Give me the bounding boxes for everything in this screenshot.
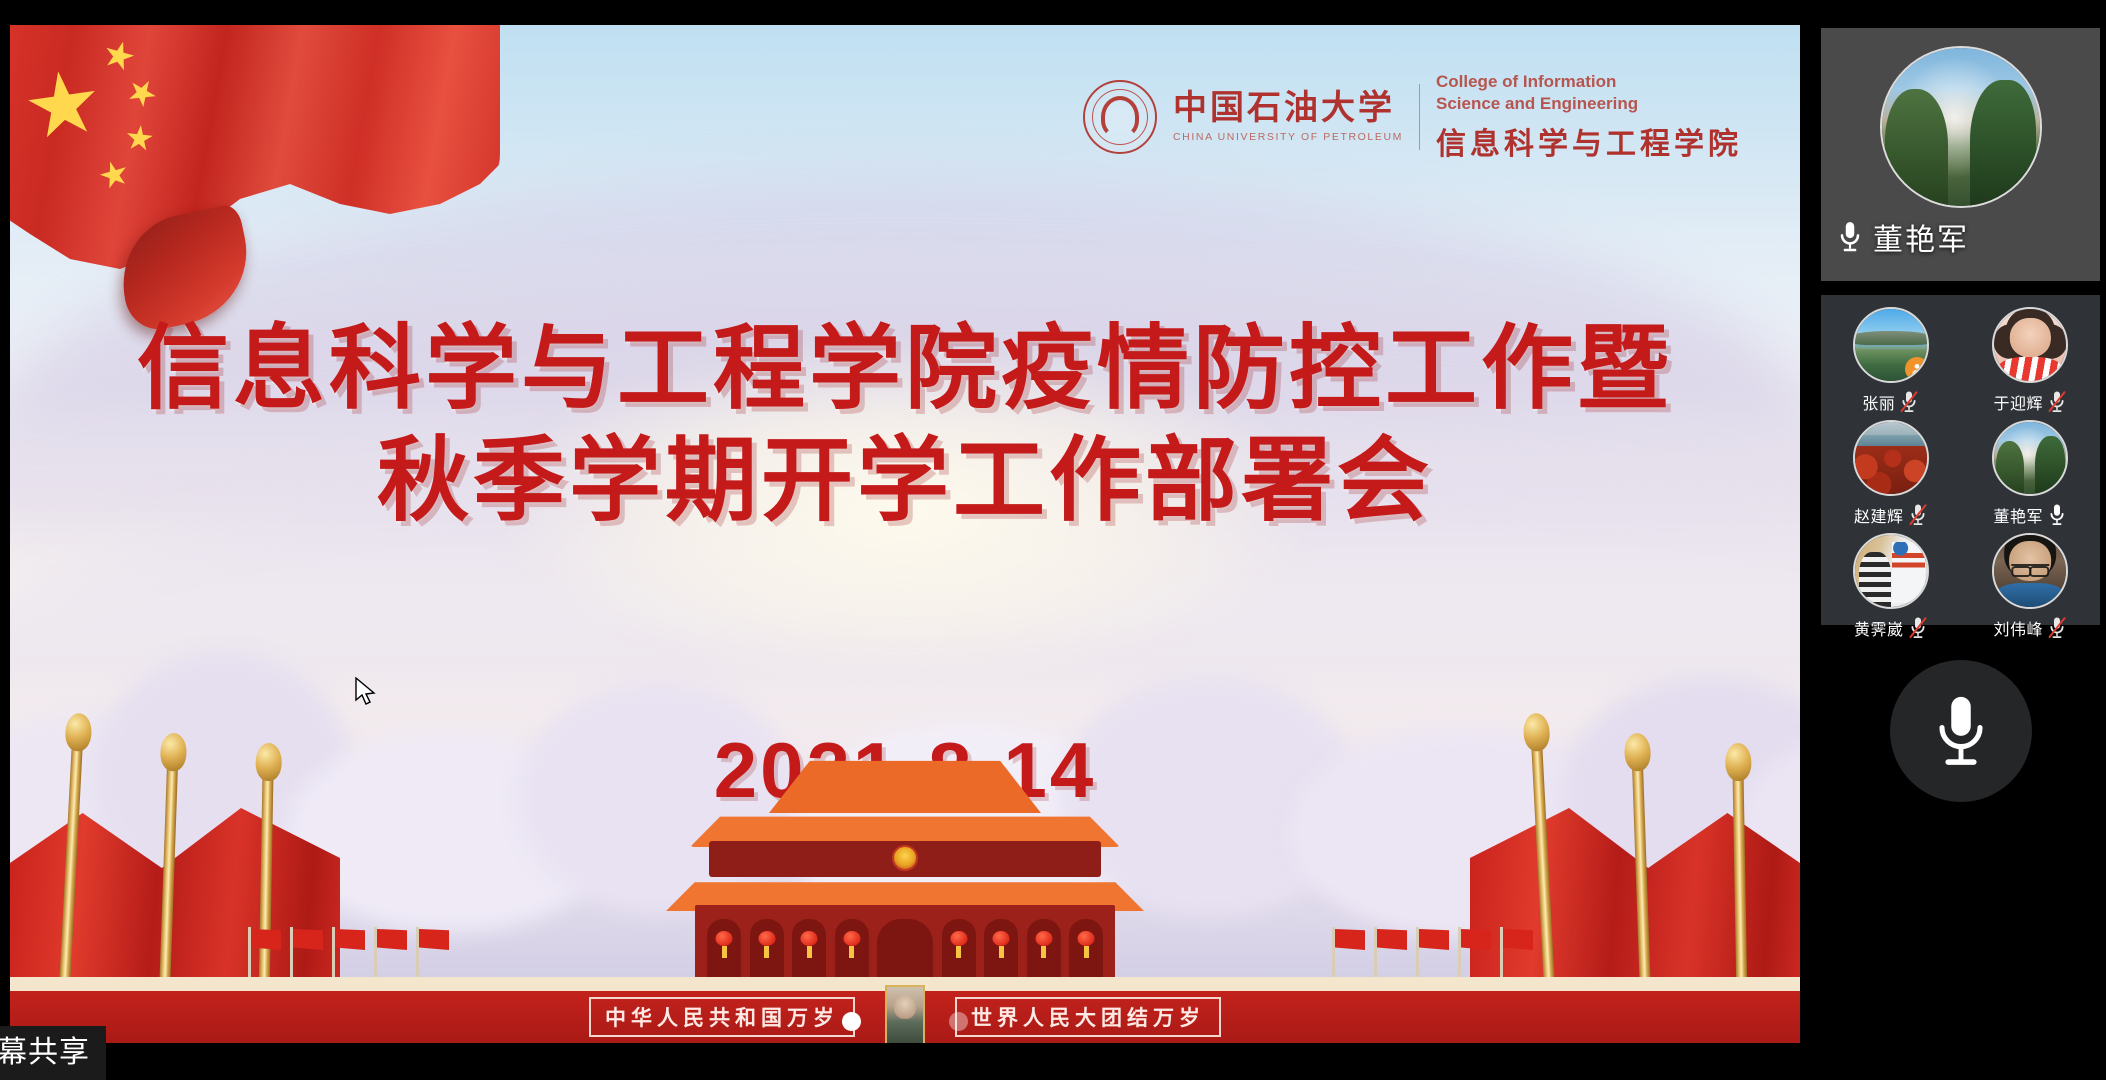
slide-dot-inactive[interactable]	[949, 1012, 968, 1031]
participant-label: 张丽	[1862, 390, 1919, 414]
university-name-cn: 中国石油大学	[1173, 91, 1403, 127]
participant-cell[interactable]: 刘伟峰	[1961, 533, 2101, 640]
active-speaker-avatar	[1880, 46, 2042, 208]
national-emblem-icon	[892, 845, 918, 871]
university-seal-icon	[1083, 80, 1157, 154]
avatar	[1853, 533, 1929, 609]
participant-name: 于迎辉	[1993, 390, 2043, 414]
microphone-icon	[2047, 503, 2067, 527]
participant-cell[interactable]: 于迎辉	[1961, 307, 2101, 414]
tiananmen-gate-graphic	[640, 745, 1170, 995]
microphone-muted-icon	[2047, 616, 2067, 640]
microphone-muted-icon	[1908, 503, 1928, 527]
avatar	[1992, 307, 2068, 383]
participants-side-panel: 董艳军 张丽	[1815, 0, 2106, 1080]
microphone-icon	[1930, 692, 1992, 770]
microphone-muted-icon	[2047, 390, 2067, 414]
microphone-muted-icon	[1908, 616, 1928, 640]
participant-name: 刘伟峰	[1993, 616, 2043, 640]
active-speaker-name: 董艳军	[1873, 215, 1969, 259]
participant-cell[interactable]: 董艳军	[1961, 420, 2101, 527]
slide-title: 信息科学与工程学院疫情防控工作暨 秋季学期开学工作部署会	[10, 313, 1800, 537]
microphone-muted-icon	[1899, 390, 1919, 414]
logo-divider	[1419, 84, 1420, 150]
active-speaker-tile[interactable]: 董艳军	[1821, 28, 2100, 281]
college-name-cn: 信息科学与工程学院	[1436, 119, 1742, 163]
university-name-en: CHINA UNIVERSITY OF PETROLEUM	[1173, 131, 1403, 143]
participant-label: 赵建辉	[1854, 503, 1928, 527]
participant-name: 赵建辉	[1854, 503, 1904, 527]
microphone-icon	[1837, 220, 1863, 254]
control-bar	[1821, 650, 2100, 850]
mouse-cursor	[355, 677, 377, 707]
mini-flags-left	[238, 921, 488, 981]
college-name-en-line2: Science and Engineering	[1436, 93, 1742, 115]
participant-cell[interactable]: 赵建辉	[1821, 420, 1961, 527]
participant-grid-panel: 张丽 于迎辉	[1821, 295, 2100, 625]
college-name-en-line1: College of Information	[1436, 71, 1742, 93]
host-person-icon	[1905, 357, 1929, 381]
screen-share-status: 屏幕共享	[0, 1026, 106, 1080]
participant-label: 刘伟峰	[1993, 616, 2067, 640]
mic-toggle-button[interactable]	[1890, 660, 2032, 802]
participant-label: 董艳军	[1993, 503, 2067, 527]
slide-pagination[interactable]	[10, 1012, 1800, 1031]
participant-label: 黄霁崴	[1854, 616, 1928, 640]
university-logo: 中国石油大学 CHINA UNIVERSITY OF PETROLEUM Col…	[1083, 71, 1742, 163]
participant-grid: 张丽 于迎辉	[1821, 307, 2100, 640]
participant-name: 张丽	[1862, 390, 1895, 414]
avatar	[1992, 420, 2068, 496]
chinese-flag-graphic	[10, 25, 520, 339]
avatar	[1853, 307, 1929, 383]
active-speaker-label: 董艳军	[1837, 215, 1969, 259]
presentation-slide: 中国石油大学 CHINA UNIVERSITY OF PETROLEUM Col…	[10, 25, 1800, 1043]
participant-name: 董艳军	[1993, 503, 2043, 527]
shared-screen-area[interactable]: 中国石油大学 CHINA UNIVERSITY OF PETROLEUM Col…	[10, 25, 1800, 1043]
participant-name: 黄霁崴	[1854, 616, 1904, 640]
participant-label: 于迎辉	[1993, 390, 2067, 414]
participant-cell[interactable]: 张丽	[1821, 307, 1961, 414]
meeting-screen: 中国石油大学 CHINA UNIVERSITY OF PETROLEUM Col…	[0, 0, 2106, 1080]
slide-dot-active[interactable]	[842, 1012, 861, 1031]
avatar	[1992, 533, 2068, 609]
mini-flags-right	[1322, 921, 1572, 981]
avatar	[1853, 420, 1929, 496]
participant-cell[interactable]: 黄霁崴	[1821, 533, 1961, 640]
